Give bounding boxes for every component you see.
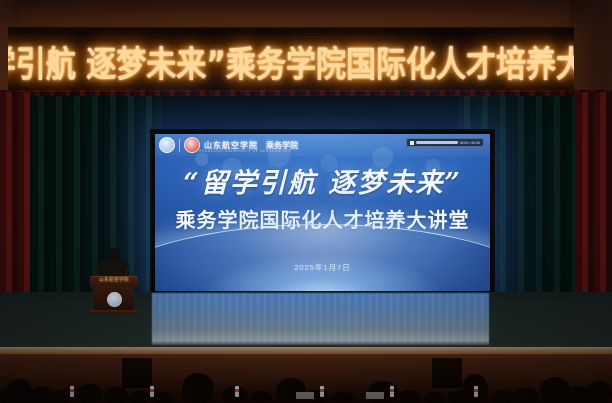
water-bottle [235, 386, 239, 397]
audience-head [152, 392, 172, 403]
audience-head [540, 377, 570, 403]
audience-head [128, 391, 150, 403]
player-time-label: 00:00 / 00:00 [460, 141, 480, 145]
led-banner-text: “留学引航 逐梦未来”乘务学院国际化人才培养大讲堂 [8, 35, 574, 87]
screen-floor-reflection [152, 293, 489, 345]
slide-institution-english: SHANDONG UNIVERSITY OF AERONAUTICS [199, 149, 291, 153]
audience-head [276, 378, 306, 403]
audience-head [76, 384, 102, 403]
presentation-slide: 山东航空学院 乘务学院 SHANDONG UNIVERSITY OF AERON… [155, 134, 490, 291]
audience-head [492, 390, 514, 403]
speaker-cabinet-left [122, 358, 152, 388]
audience-head [398, 390, 420, 403]
audience-head [182, 373, 214, 403]
audience-head [0, 389, 14, 403]
university-seal-red-icon [184, 137, 200, 153]
audience-head [30, 387, 52, 403]
projection-screen: 山东航空学院 乘务学院 SHANDONG UNIVERSITY OF AERON… [150, 129, 495, 296]
audience-head [586, 381, 612, 403]
auditorium-photo: “留学引航 逐梦未来”乘务学院国际化人才培养大讲堂 山东航空学院 乘务学院 SH… [0, 0, 612, 403]
led-banner: “留学引航 逐梦未来”乘务学院国际化人才培养大讲堂 [8, 27, 574, 95]
podium-group: 山东航空学院 [82, 248, 148, 314]
podium-nameplate: 山东航空学院 [91, 277, 137, 283]
slide-subtitle: 乘务学院国际化人才培养大讲堂 [155, 210, 490, 230]
stage-floor-right [489, 300, 612, 352]
audience-area [0, 358, 612, 403]
header-divider [179, 139, 180, 152]
water-bottle [70, 386, 74, 397]
slide-title: “留学引航 逐梦未来” [155, 170, 490, 197]
water-bottle [320, 386, 324, 397]
podium-base [90, 310, 138, 314]
media-player-bar[interactable]: 00:00 / 00:00 [406, 138, 484, 147]
audience-head [52, 390, 72, 403]
audience-head [424, 392, 444, 403]
name-card [296, 392, 314, 399]
audience-head [104, 387, 128, 403]
audience-head [330, 392, 354, 403]
podium-seal-icon [107, 292, 122, 307]
slide-date: 2025年1月7日 [155, 262, 490, 273]
water-bottle [150, 386, 154, 397]
audience-head [250, 391, 272, 403]
university-seal-blue-icon [159, 137, 175, 153]
play-stop-icon[interactable] [410, 141, 414, 145]
audience-head [514, 388, 538, 403]
water-bottle [390, 386, 394, 397]
player-progress-track[interactable] [416, 141, 458, 144]
speaker-cabinet-right [432, 358, 462, 388]
water-bottle [474, 386, 478, 397]
name-card [366, 392, 384, 399]
